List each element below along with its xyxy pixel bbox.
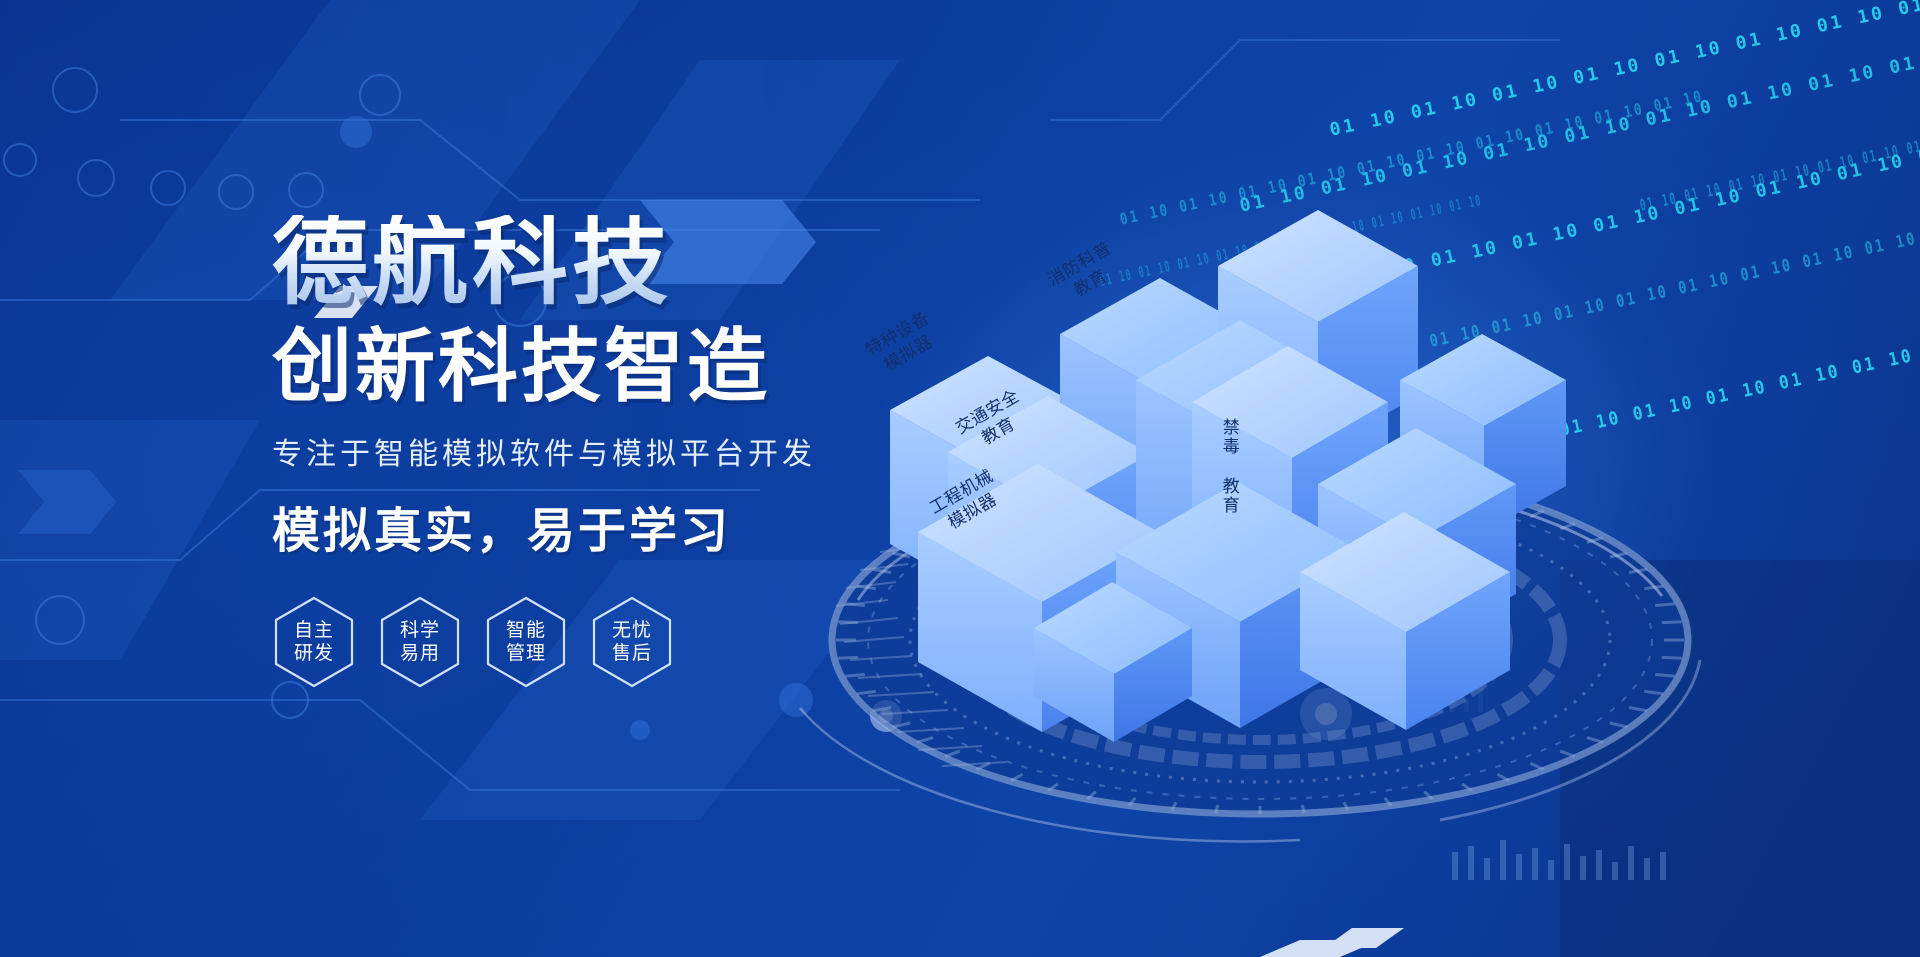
badge-line-2: 售后 — [612, 643, 652, 664]
badge-smart-manage[interactable]: 智能管理 — [484, 595, 568, 689]
badge-line-2: 研发 — [294, 643, 334, 664]
badge-independent-rd[interactable]: 自主研发 — [272, 595, 356, 689]
badge-line-1: 智能 — [506, 620, 546, 641]
badge-line-1: 科学 — [400, 620, 440, 641]
badge-scientific-easy[interactable]: 科学易用 — [378, 595, 462, 689]
badge-label: 自主研发 — [286, 619, 342, 665]
badge-worryfree-service[interactable]: 无忧售后 — [590, 595, 674, 689]
banner-stage: 01 10 01 10 01 10 01 10 01 10 01 10 01 1… — [0, 0, 1920, 957]
badge-label: 无忧售后 — [604, 619, 660, 665]
badge-label: 科学易用 — [392, 619, 448, 665]
badge-line-1: 无忧 — [612, 620, 652, 641]
badge-label: 智能管理 — [498, 619, 554, 665]
badge-line-1: 自主 — [294, 620, 334, 641]
cube-stack-graphic — [740, 80, 1840, 880]
badge-line-2: 易用 — [400, 643, 440, 664]
isometric-cube-scene: 特种设备 模拟器消防科普 教育交通安全 教育工程机械 模拟器禁毒 教育 — [740, 80, 1840, 880]
badge-line-2: 管理 — [506, 643, 546, 664]
